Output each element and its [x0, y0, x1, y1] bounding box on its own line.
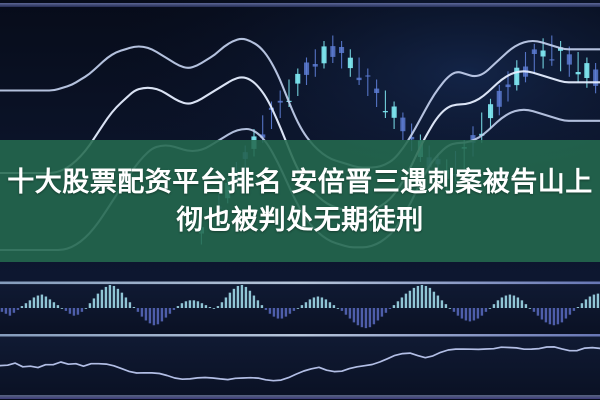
macd-bar — [129, 302, 131, 308]
macd-bar — [393, 305, 395, 308]
candle-body — [313, 64, 318, 67]
macd-bar — [353, 308, 355, 322]
macd-bar — [457, 308, 459, 316]
macd-bar — [517, 297, 519, 308]
macd-bar — [421, 285, 423, 308]
candle-body — [593, 70, 598, 86]
macd-bar — [125, 297, 127, 308]
macd-bar — [501, 297, 503, 308]
macd-bar — [293, 308, 295, 311]
candle-body — [365, 75, 370, 76]
macd-bar — [317, 297, 319, 309]
macd-bar — [481, 308, 483, 316]
candle-body — [584, 63, 589, 78]
macd-bar — [281, 308, 283, 319]
macd-bar — [589, 297, 591, 309]
candle-body — [304, 63, 309, 75]
macd-bar — [237, 286, 239, 308]
macd-bar — [173, 308, 175, 310]
macd-bar — [389, 308, 391, 309]
macd-bar — [321, 297, 323, 308]
macd-bar — [385, 308, 387, 313]
macd-bar — [221, 302, 223, 308]
macd-bar — [101, 290, 103, 308]
macd-bar — [269, 308, 271, 314]
macd-bar — [369, 308, 371, 327]
macd-bar — [597, 294, 599, 308]
candle-body — [357, 78, 362, 80]
candle-body — [392, 107, 397, 118]
macd-panel-top-divider — [0, 282, 600, 285]
candle-body — [339, 47, 344, 53]
macd-bar — [573, 308, 575, 311]
candle-body — [549, 59, 554, 60]
macd-bar — [429, 288, 431, 308]
bottom-highlight-rule — [0, 395, 600, 399]
macd-bar — [229, 293, 231, 308]
macd-bar — [249, 291, 251, 308]
macd-bar — [225, 297, 227, 308]
macd-bar — [541, 308, 543, 320]
macd-bar — [477, 308, 479, 319]
macd-bar — [161, 308, 163, 321]
candle-body — [497, 91, 502, 107]
macd-bar — [21, 306, 23, 308]
macd-bar — [333, 305, 335, 308]
headline-banner: 十大股票配资平台排名 安倍晋三遇刺案被告山上 彻也被判处无期徒刑 — [0, 140, 600, 262]
macd-bar — [437, 296, 439, 308]
macd-bar — [397, 301, 399, 308]
macd-bar — [301, 305, 303, 308]
macd-bar — [233, 289, 235, 308]
candle-body — [488, 104, 493, 118]
macd-bar — [497, 300, 499, 308]
macd-bar — [285, 308, 287, 317]
macd-bar — [61, 308, 63, 309]
macd-bar — [349, 308, 351, 319]
macd-bar — [277, 308, 279, 319]
macd-bar — [545, 308, 547, 322]
macd-bar — [165, 308, 167, 318]
candle-body — [506, 85, 511, 88]
macd-bar — [493, 304, 495, 308]
macd-bar — [553, 308, 555, 325]
macd-bar — [149, 308, 151, 323]
macd-panel-bottom-divider — [0, 334, 600, 337]
macd-bar — [257, 300, 259, 308]
macd-bar — [445, 304, 447, 308]
macd-bar — [113, 286, 115, 308]
macd-bar — [413, 288, 415, 308]
macd-bar — [381, 308, 383, 317]
top-highlight-rule — [0, 3, 600, 7]
macd-bar — [549, 308, 551, 324]
macd-bar — [5, 308, 7, 314]
candle-body — [514, 68, 519, 85]
macd-bar — [461, 308, 463, 319]
macd-bar — [73, 308, 75, 316]
macd-bar — [557, 308, 559, 324]
candle-body — [330, 46, 335, 57]
macd-bar — [1, 308, 3, 312]
macd-bar — [197, 301, 199, 308]
macd-bar — [201, 303, 203, 308]
candle-body — [532, 49, 537, 54]
macd-bar — [65, 308, 67, 311]
macd-bar — [509, 295, 511, 308]
macd-bar — [341, 308, 343, 311]
macd-bar — [81, 308, 83, 312]
macd-bar — [325, 299, 327, 308]
candle-body — [295, 74, 300, 84]
candle-body — [576, 72, 581, 74]
macd-bar — [121, 293, 123, 308]
macd-bar — [253, 296, 255, 308]
macd-bar — [33, 297, 35, 308]
macd-bar — [373, 308, 375, 324]
macd-bar — [169, 308, 171, 314]
macd-bar — [361, 308, 363, 327]
candle-body — [541, 51, 546, 57]
macd-bar — [37, 296, 39, 308]
macd-bar — [145, 308, 147, 320]
headline-line-1: 十大股票配资平台排名 安倍晋三遇刺案被告山上 — [7, 163, 593, 201]
macd-bar — [313, 297, 315, 308]
macd-bar — [405, 294, 407, 308]
macd-bar — [417, 286, 419, 308]
macd-bar — [337, 308, 339, 309]
macd-bar — [521, 300, 523, 308]
macd-bar — [309, 299, 311, 308]
macd-bar — [365, 308, 367, 328]
macd-bar — [537, 308, 539, 316]
macd-bar — [297, 308, 299, 309]
macd-bar — [141, 308, 143, 317]
macd-bar — [261, 305, 263, 308]
macd-bar — [345, 308, 347, 315]
macd-bar — [89, 303, 91, 308]
macd-bar — [569, 308, 571, 315]
macd-bar — [433, 292, 435, 308]
macd-bar — [485, 308, 487, 312]
macd-bar — [533, 308, 535, 312]
macd-bar — [357, 308, 359, 325]
macd-bar — [401, 297, 403, 308]
macd-bar — [17, 308, 19, 310]
macd-bar — [585, 299, 587, 308]
macd-bar — [9, 308, 11, 316]
macd-bar — [177, 306, 179, 308]
macd-bar — [13, 308, 15, 313]
macd-bar — [157, 308, 159, 324]
macd-bar — [189, 300, 191, 308]
macd-bar — [409, 291, 411, 308]
macd-bar — [473, 308, 475, 320]
macd-bar — [41, 295, 43, 308]
macd-bar — [117, 289, 119, 308]
macd-bar — [133, 307, 135, 308]
macd-bar — [109, 285, 111, 308]
macd-bar — [289, 308, 291, 314]
macd-bar — [329, 302, 331, 308]
candle-body — [383, 111, 388, 112]
macd-bar — [241, 285, 243, 308]
macd-bar — [513, 296, 515, 308]
macd-bar — [425, 286, 427, 308]
macd-bar — [561, 308, 563, 322]
macd-panel-background — [0, 283, 600, 335]
macd-bar — [529, 308, 531, 309]
macd-bar — [245, 287, 247, 308]
macd-bar — [505, 296, 507, 308]
macd-bar — [53, 302, 55, 308]
macd-bar — [93, 298, 95, 308]
macd-bar — [105, 287, 107, 308]
candle-body — [322, 46, 327, 63]
macd-bar — [29, 300, 31, 308]
macd-bar — [453, 308, 455, 312]
macd-bar — [525, 304, 527, 308]
macd-bar — [593, 295, 595, 308]
macd-bar — [185, 301, 187, 308]
macd-bar — [577, 307, 579, 308]
headline-line-2: 彻也被判处无期徒刑 — [7, 201, 593, 239]
macd-bar — [265, 308, 267, 310]
thumbnail-canvas: 十大股票配资平台排名 安倍晋三遇刺案被告山上 彻也被判处无期徒刑 — [0, 0, 600, 400]
macd-bar — [193, 300, 195, 308]
candle-body — [400, 118, 405, 132]
macd-bar — [449, 308, 451, 309]
macd-bar — [441, 300, 443, 308]
macd-bar — [77, 308, 79, 315]
macd-bar — [49, 299, 51, 308]
macd-bar — [213, 308, 215, 309]
macd-bar — [57, 305, 59, 308]
macd-bar — [465, 308, 467, 320]
macd-bar — [377, 308, 379, 320]
candle-body — [374, 89, 379, 93]
macd-bar — [97, 294, 99, 308]
macd-bar — [273, 308, 275, 317]
macd-bar — [205, 305, 207, 308]
macd-bar — [581, 303, 583, 308]
macd-bar — [137, 308, 139, 312]
macd-bar — [217, 306, 219, 308]
macd-bar — [45, 297, 47, 309]
macd-bar — [69, 308, 71, 314]
indicator-panel-background — [0, 337, 600, 399]
macd-bar — [489, 308, 491, 309]
macd-bar — [565, 308, 567, 319]
macd-bar — [305, 302, 307, 308]
macd-bar — [469, 308, 471, 321]
macd-bar — [181, 303, 183, 308]
macd-bar — [85, 308, 87, 309]
candle-body — [278, 101, 283, 103]
macd-bar — [25, 303, 27, 308]
candle-body — [348, 58, 353, 68]
headline-text: 十大股票配资平台排名 安倍晋三遇刺案被告山上 彻也被判处无期徒刑 — [7, 163, 593, 240]
candle-body — [567, 54, 572, 64]
macd-bar — [209, 307, 211, 308]
macd-bar — [153, 308, 155, 325]
